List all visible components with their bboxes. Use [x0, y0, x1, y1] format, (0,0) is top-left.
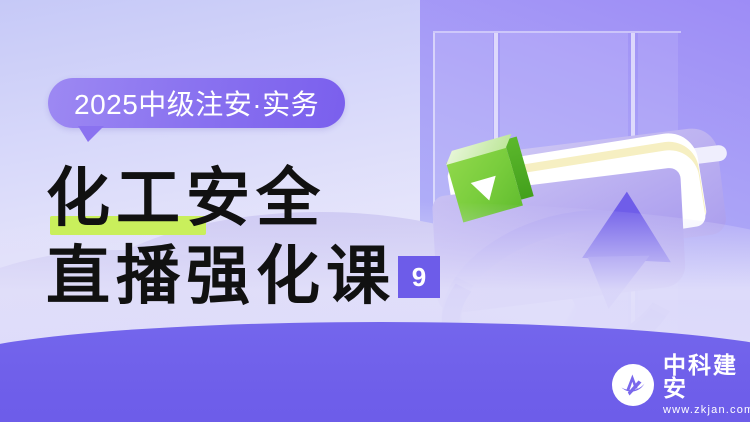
headline-line-1-row: 化工安全 — [46, 160, 466, 238]
headline-line-2-row: 直播强化课 9 — [46, 238, 466, 316]
headline-line-2: 直播强化课 — [46, 238, 396, 316]
zkjan-monogram-icon — [612, 364, 654, 406]
headline-line-1: 化工安全 — [46, 160, 466, 238]
episode-number-badge: 9 — [398, 256, 440, 298]
brand-logo-text: 中科建安 www.zkjan.com — [663, 354, 750, 416]
decorative-panel-top-edge — [433, 31, 681, 33]
brand-name: 中科建安 — [663, 354, 750, 400]
badge-tail-pointer — [78, 126, 104, 142]
headline-block: 化工安全 直播强化课 9 — [46, 160, 466, 316]
brand-website-url: www.zkjan.com — [663, 405, 750, 416]
course-category-badge: 2025中级注安·实务 — [48, 78, 345, 128]
course-poster: 2025中级注安·实务 化工安全 直播强化课 9 中科建安 www.zkjan.… — [0, 0, 750, 422]
course-category-badge-label: 2025中级注安·实务 — [74, 83, 319, 123]
brand-logo: 中科建安 www.zkjan.com — [612, 354, 750, 416]
